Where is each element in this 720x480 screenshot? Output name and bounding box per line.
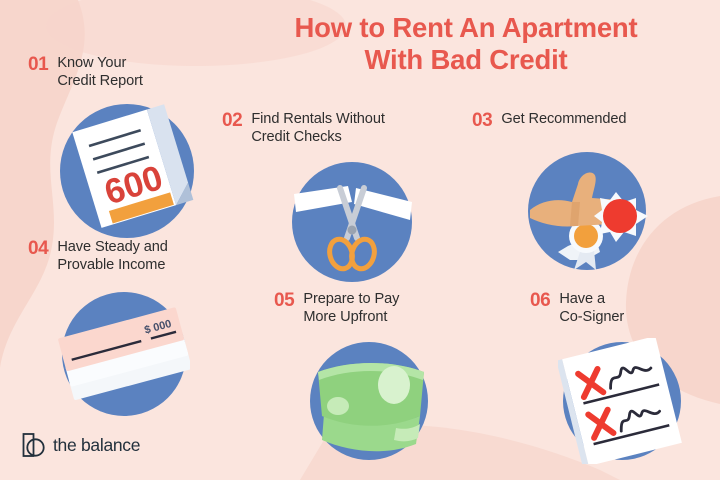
thumbs-up-award-icon	[524, 148, 650, 274]
step-04-header: 04 Have Steady and Provable Income	[28, 238, 168, 275]
step-05-header: 05 Prepare to Pay More Upfront	[274, 290, 399, 327]
infographic-canvas: How to Rent An Apartment With Bad Credit…	[0, 0, 720, 480]
step-05-number: 05	[274, 290, 294, 311]
paychecks-stack-icon: $ 000	[58, 288, 190, 420]
step-01: 01 Know Your Credit Report	[28, 54, 143, 91]
step-06-header: 06 Have a Co-Signer	[530, 290, 624, 327]
step-03: 03 Get Recommended	[472, 110, 626, 131]
step-06: 06 Have a Co-Signer	[530, 290, 624, 327]
page-title: How to Rent An Apartment With Bad Credit	[226, 12, 706, 77]
brand-logo-text: the balance	[53, 435, 140, 456]
step-02-header: 02 Find Rentals Without Credit Checks	[222, 110, 385, 147]
cash-banknotes-icon	[304, 338, 434, 464]
step-03-header: 03 Get Recommended	[472, 110, 626, 131]
step-02: 02 Find Rentals Without Credit Checks	[222, 110, 385, 147]
step-04-number: 04	[28, 238, 48, 259]
step-03-label: Get Recommended	[501, 110, 626, 128]
step-02-number: 02	[222, 110, 242, 131]
scissors-cutting-ribbon-icon	[288, 158, 416, 286]
step-04-label: Have Steady and Provable Income	[57, 238, 167, 275]
brand-logo[interactable]: the balance	[22, 432, 140, 458]
step-05-label: Prepare to Pay More Upfront	[303, 290, 399, 327]
step-06-label: Have a Co-Signer	[559, 290, 624, 327]
credit-report-icon: 600	[56, 100, 198, 242]
step-01-label: Know Your Credit Report	[57, 54, 143, 91]
step-03-number: 03	[472, 110, 492, 131]
step-04: 04 Have Steady and Provable Income	[28, 238, 168, 275]
step-06-number: 06	[530, 290, 550, 311]
step-05: 05 Prepare to Pay More Upfront	[274, 290, 399, 327]
step-02-label: Find Rentals Without Credit Checks	[251, 110, 384, 147]
step-01-header: 01 Know Your Credit Report	[28, 54, 143, 91]
step-01-number: 01	[28, 54, 48, 75]
signature-document-icon	[558, 338, 686, 464]
balance-b-logo-icon	[22, 432, 46, 458]
